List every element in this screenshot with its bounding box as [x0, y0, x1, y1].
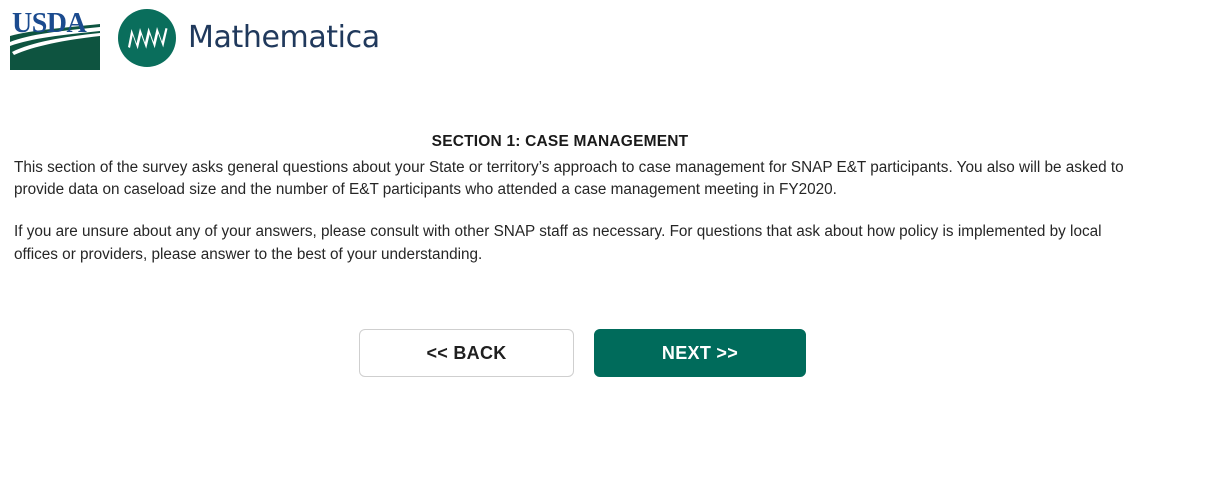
intro-paragraph-1: This section of the survey asks general …	[14, 157, 1146, 201]
mathematica-wordmark: Mathematica	[188, 23, 380, 53]
page-title: SECTION 1: CASE MANAGEMENT	[14, 133, 1146, 151]
usda-logo: USDA	[10, 6, 100, 70]
logo-row: USDA Mathematica	[10, 6, 380, 70]
svg-text:USDA: USDA	[12, 8, 88, 39]
mathematica-mark-icon	[118, 9, 176, 67]
page-header: USDA Mathematica	[0, 0, 1209, 86]
back-button[interactable]: << BACK	[359, 329, 574, 377]
intro-paragraph-2: If you are unsure about any of your answ…	[14, 221, 1146, 265]
usda-logo-icon: USDA	[10, 6, 100, 70]
navigation-buttons: << BACK NEXT >>	[359, 329, 806, 377]
next-button[interactable]: NEXT >>	[594, 329, 806, 377]
survey-intro-content: SECTION 1: CASE MANAGEMENT This section …	[14, 133, 1146, 266]
mathematica-logo: Mathematica	[118, 9, 380, 67]
